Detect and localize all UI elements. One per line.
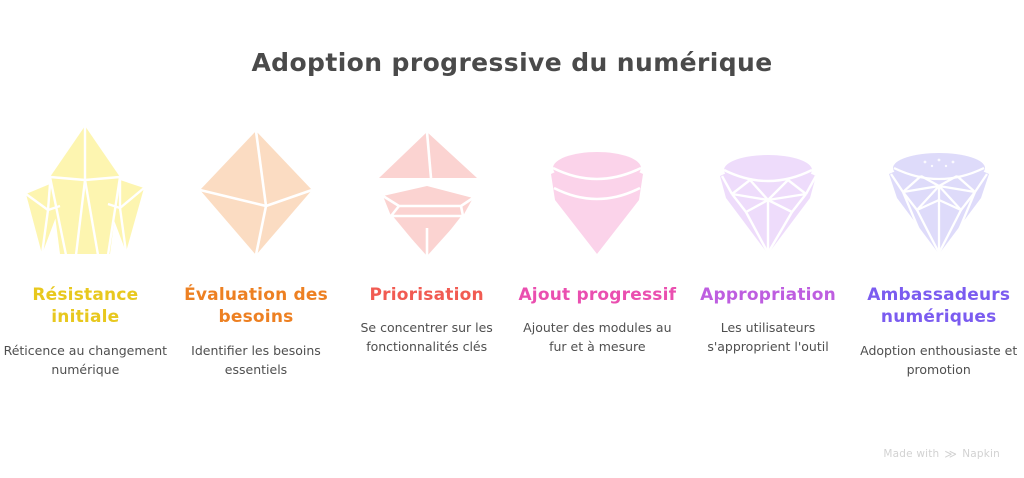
- stage-column-3: Priorisation Se concentrer sur les fonct…: [341, 118, 512, 356]
- napkin-logo-icon: ≫: [944, 448, 957, 460]
- stage-heading-3: Priorisation: [344, 284, 509, 306]
- stage-label-4: Ajout progressif Ajouter des modules au …: [515, 284, 680, 356]
- stage-heading-1: Résistance initiale: [3, 284, 168, 329]
- stage-label-3: Priorisation Se concentrer sur les fonct…: [344, 284, 509, 356]
- stage-heading-2: Évaluation des besoins: [174, 284, 339, 329]
- infographic-page: Adoption progressive du numérique: [0, 0, 1024, 478]
- napkin-watermark: Made with ≫ Napkin: [883, 448, 1000, 460]
- stage-description-4: Ajouter des modules au fur et à mesure: [515, 318, 680, 356]
- stage-column-5: Appropriation Les utilisateurs s'appropr…: [683, 118, 854, 356]
- stage-label-1: Résistance initiale Réticence au changem…: [3, 284, 168, 379]
- stage-heading-6: Ambassadeurs numériques: [856, 284, 1021, 329]
- page-title: Adoption progressive du numérique: [0, 48, 1024, 77]
- crystal-cluster-icon: [10, 118, 160, 258]
- round-cut-gem-icon: [522, 118, 672, 258]
- brilliant-diamond-icon: [864, 118, 1014, 258]
- split-gem-icon: [352, 118, 502, 258]
- faceted-gem-icon: [693, 118, 843, 258]
- stage-column-1: Résistance initiale Réticence au changem…: [0, 118, 171, 379]
- stage-heading-4: Ajout progressif: [515, 284, 680, 306]
- watermark-brand: Napkin: [962, 448, 1000, 460]
- octahedron-gem-icon: [181, 118, 331, 258]
- stage-label-6: Ambassadeurs numériques Adoption enthous…: [856, 284, 1021, 379]
- stage-description-2: Identifier les besoins essentiels: [174, 341, 339, 379]
- stage-heading-5: Appropriation: [686, 284, 851, 306]
- stage-description-3: Se concentrer sur les fonctionnalités cl…: [344, 318, 509, 356]
- stage-description-1: Réticence au changement numérique: [3, 341, 168, 379]
- stage-column-4: Ajout progressif Ajouter des modules au …: [512, 118, 683, 356]
- stages-row: Résistance initiale Réticence au changem…: [0, 118, 1024, 379]
- stage-label-5: Appropriation Les utilisateurs s'appropr…: [686, 284, 851, 356]
- stage-column-6: Ambassadeurs numériques Adoption enthous…: [853, 118, 1024, 379]
- stage-label-2: Évaluation des besoins Identifier les be…: [174, 284, 339, 379]
- stage-description-5: Les utilisateurs s'approprient l'outil: [686, 318, 851, 356]
- stage-description-6: Adoption enthousiaste et promotion: [856, 341, 1021, 379]
- watermark-text-before: Made with: [883, 448, 939, 460]
- stage-column-2: Évaluation des besoins Identifier les be…: [171, 118, 342, 379]
